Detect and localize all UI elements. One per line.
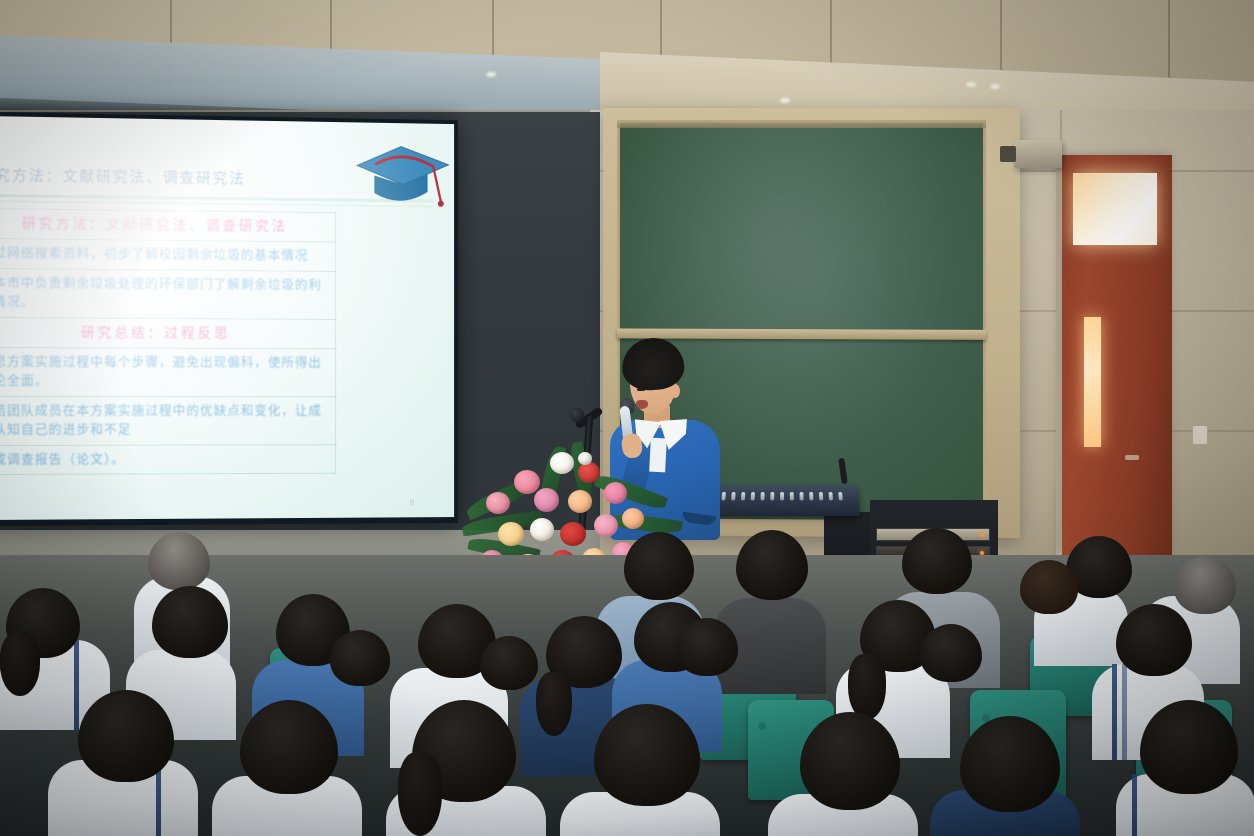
audio-mixing-console[interactable]	[710, 486, 860, 516]
audience-head	[624, 532, 694, 600]
wall-speaker	[1014, 140, 1062, 168]
graduation-cap-icon	[350, 140, 455, 212]
slide-row-header: 研究方法：文献研究法、调查研究法	[0, 208, 336, 242]
slide-row-body: 总结团队成员在本方案实施过程中的优缺点和变化，让成员认知自己的进步和不足	[0, 396, 336, 445]
table-row: 完成调查报告（论文）。	[0, 444, 336, 474]
audience-head	[960, 716, 1060, 812]
slide-row-body: 通过网络搜索资料，初步了解校园剩余垃圾的基本情况	[0, 238, 336, 271]
slide-page-number: 8	[410, 498, 415, 508]
table-row: 通过网络搜索资料，初步了解校园剩余垃圾的基本情况	[0, 238, 336, 271]
table-row: 到本市中负责剩余垃圾处理的环保部门了解剩余垃圾的利用情况。	[0, 268, 336, 319]
mic-stand-knob	[570, 408, 584, 422]
door-handle[interactable]	[1125, 455, 1139, 460]
audience-head	[78, 690, 174, 782]
table-row: 研究总结：过程反思	[0, 317, 336, 348]
slide-row-body: 反思方案实施过程中每个步骤，避免出现偏科，使所得出结论全面。	[0, 347, 336, 396]
audience-head	[1140, 700, 1238, 794]
door-glass-slit	[1084, 317, 1101, 447]
audience-head	[1174, 556, 1236, 614]
table-row: 反思方案实施过程中每个步骤，避免出现偏科，使所得出结论全面。	[0, 347, 336, 396]
audience-head	[920, 624, 982, 682]
slide-row-header: 研究总结：过程反思	[0, 317, 336, 348]
slide-row-body: 完成调查报告（论文）。	[0, 444, 336, 474]
audience-head	[1020, 560, 1078, 614]
audience-head	[330, 630, 390, 686]
audience-head	[1116, 604, 1192, 676]
audience-head	[148, 532, 210, 590]
ponytail	[536, 672, 572, 736]
ponytail	[0, 632, 40, 696]
wall-outlet	[1192, 425, 1208, 445]
audience-head	[676, 618, 738, 676]
ponytail	[848, 654, 886, 720]
ponytail	[398, 752, 442, 836]
classroom-door[interactable]	[1062, 155, 1172, 555]
table-row: 研究方法：文献研究法、调查研究法	[0, 208, 336, 242]
presentation-slide: 研究方法：文献研究法、调查研究法 研究方法：文献研究法、调查研究法	[0, 116, 454, 520]
projection-screen: 研究方法：文献研究法、调查研究法 研究方法：文献研究法、调查研究法	[0, 112, 458, 526]
audience-head	[240, 700, 338, 794]
door-glass-panel	[1073, 173, 1157, 245]
slide-row-body: 到本市中负责剩余垃圾处理的环保部门了解剩余垃圾的利用情况。	[0, 268, 336, 319]
audience-head	[152, 586, 228, 658]
slide-content-table: 研究方法：文献研究法、调查研究法 通过网络搜索资料，初步了解校园剩余垃圾的基本情…	[0, 208, 336, 475]
audience-head	[480, 636, 538, 690]
table-row: 总结团队成员在本方案实施过程中的优缺点和变化，让成员认知自己的进步和不足	[0, 396, 336, 445]
audience-head	[736, 530, 808, 600]
slide-title: 研究方法：文献研究法、调查研究法	[0, 164, 246, 189]
photo-scene: 研究方法：文献研究法、调查研究法 研究方法：文献研究法、调查研究法	[0, 0, 1254, 836]
audience-head	[902, 528, 972, 594]
